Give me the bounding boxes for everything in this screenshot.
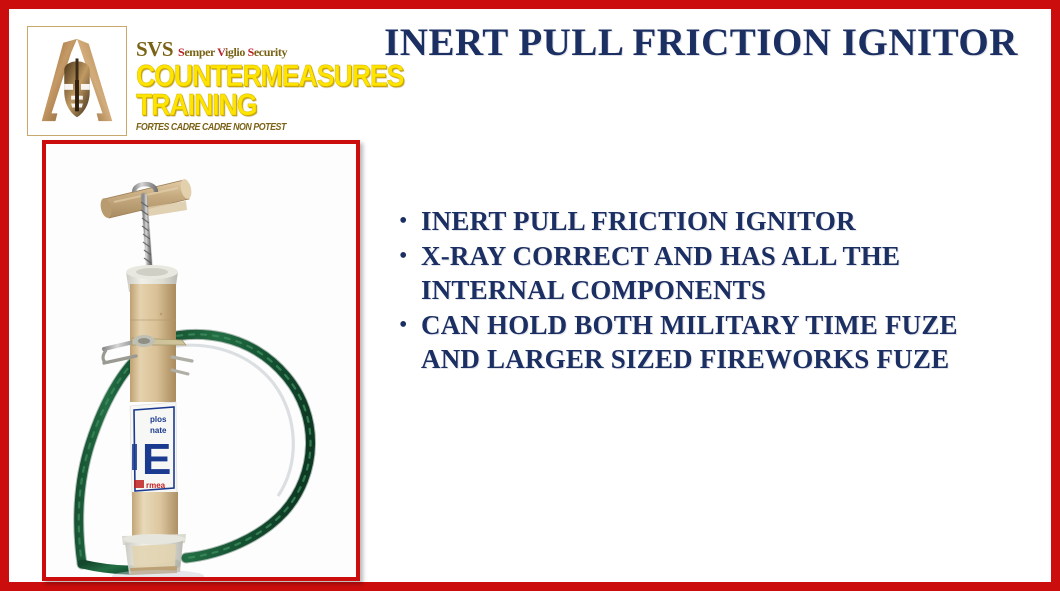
- list-item-text: X-RAY CORRECT AND HAS ALL THE INTERNAL C…: [421, 239, 1015, 307]
- list-item: • CAN HOLD BOTH MILITARY TIME FUZE AND L…: [395, 308, 1015, 376]
- list-item: • X-RAY CORRECT AND HAS ALL THE INTERNAL…: [395, 239, 1015, 307]
- brand-wordmark: SVSSemper Viglio Security COUNTERMEASURE…: [136, 21, 368, 133]
- slide-canvas: SVSSemper Viglio Security COUNTERMEASURE…: [0, 0, 1060, 591]
- list-item: • INERT PULL FRICTION IGNITOR: [395, 204, 1015, 238]
- warning-label-icon: plos nate E rmea: [130, 402, 177, 496]
- product-photo: plos nate E rmea: [42, 140, 360, 581]
- list-item-line-2: AND LARGER SIZED FIREWORKS FUZE: [421, 342, 1015, 376]
- clear-plastic-base-collar-icon: [122, 534, 186, 575]
- page-title: INERT PULL FRICTION IGNITOR: [381, 23, 1021, 62]
- brand-tagline: Semper Viglio Security: [178, 45, 287, 59]
- list-item-text: CAN HOLD BOTH MILITARY TIME FUZE AND LAR…: [421, 308, 1015, 376]
- svg-text:rmea: rmea: [146, 481, 166, 490]
- svg-text:E: E: [142, 435, 171, 484]
- list-item-line-2: INTERNAL COMPONENTS: [421, 273, 1015, 307]
- list-item-line-1: X-RAY CORRECT AND HAS ALL THE: [421, 241, 900, 271]
- bullet-list: • INERT PULL FRICTION IGNITOR • X-RAY CO…: [395, 204, 1015, 377]
- list-item-text: INERT PULL FRICTION IGNITOR: [421, 204, 1015, 238]
- bullet-marker-icon: •: [395, 239, 421, 273]
- spartan-lambda-helmet-icon: [27, 26, 127, 136]
- brand-motto: FORTES CADRE CADRE NON POTEST: [136, 122, 340, 133]
- svg-text:plos: plos: [150, 415, 167, 424]
- bullet-marker-icon: •: [395, 308, 421, 342]
- list-item-line-1: INERT PULL FRICTION IGNITOR: [421, 206, 856, 236]
- list-item-line-1: CAN HOLD BOTH MILITARY TIME FUZE: [421, 310, 958, 340]
- brand-tagline-row: SVSSemper Viglio Security: [136, 21, 368, 60]
- svg-text:nate: nate: [150, 426, 167, 435]
- bullet-marker-icon: •: [395, 204, 421, 238]
- brand-line-training: TRAINING: [136, 91, 336, 120]
- brand-logo: SVSSemper Viglio Security COUNTERMEASURE…: [18, 17, 368, 142]
